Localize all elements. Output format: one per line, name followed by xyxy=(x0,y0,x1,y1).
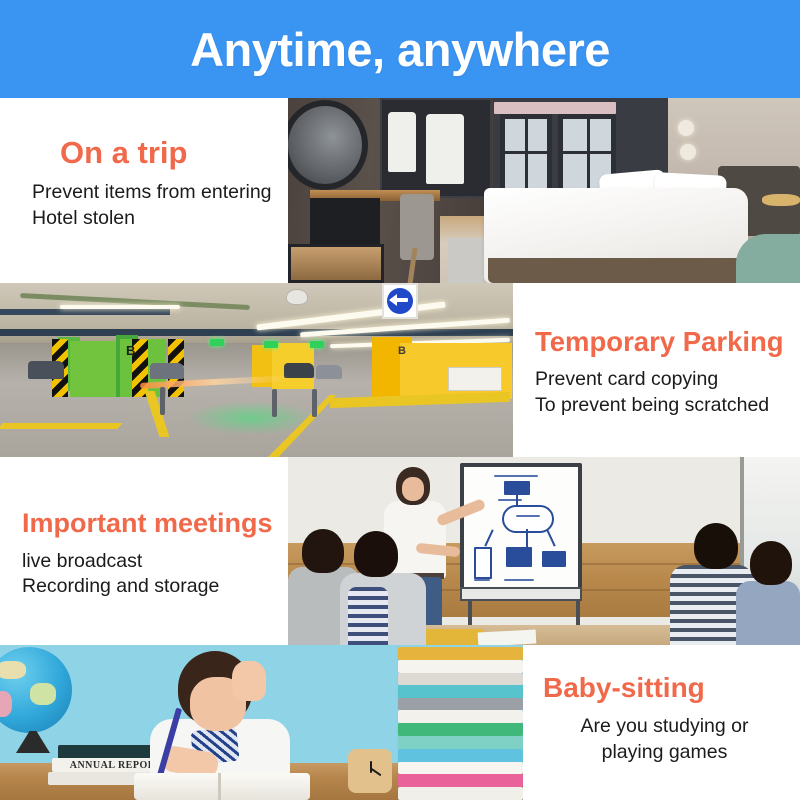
attendee-head xyxy=(302,529,344,573)
garage-fluorescent-light xyxy=(60,305,180,309)
page-title: Anytime, anywhere xyxy=(190,26,610,73)
hotel-table-lamp xyxy=(762,194,800,206)
diagram-connector xyxy=(526,529,528,547)
diagram-phone xyxy=(474,547,492,579)
green-exit-sign xyxy=(310,341,324,348)
caption-baby-sitting: Baby-sitting Are you studying or playing… xyxy=(523,645,800,800)
diagram-label xyxy=(504,579,534,581)
arrow-disc-icon xyxy=(387,288,413,314)
open-notebook xyxy=(134,773,310,800)
section-body-on-a-trip: Prevent items from entering Hotel stolen xyxy=(32,180,272,231)
stacked-book xyxy=(398,736,523,749)
window-mullion xyxy=(525,119,528,189)
cloud-label xyxy=(516,515,540,517)
hotel-wall-sconce xyxy=(680,144,696,160)
stacked-book xyxy=(398,647,523,660)
hotel-bed-base xyxy=(488,258,746,283)
attendee-head xyxy=(694,523,738,569)
parked-car xyxy=(28,361,64,379)
stacked-book xyxy=(398,723,523,736)
diagram-label xyxy=(474,579,490,581)
bollard xyxy=(160,387,165,415)
pillar-label-near: B xyxy=(126,343,135,358)
security-camera-dome xyxy=(286,289,308,305)
garage-ceiling-beam xyxy=(0,329,513,336)
parked-car xyxy=(316,365,342,379)
attendee-body xyxy=(736,581,800,645)
green-exit-sign xyxy=(264,341,278,348)
header-banner: Anytime, anywhere xyxy=(0,0,800,98)
hotel-bathrobe xyxy=(426,114,464,184)
hotel-wall-sconce xyxy=(678,120,694,136)
hotel-side-table xyxy=(736,234,800,283)
child-studying-photo: ANNUAL REPORT xyxy=(0,645,523,800)
section-body-baby-sitting: Are you studying or playing games xyxy=(537,714,792,765)
caption-temporary-parking: Temporary Parking Prevent card copying T… xyxy=(513,283,800,457)
bollard xyxy=(272,389,277,417)
diagram-label xyxy=(498,499,522,501)
diagram-cloud xyxy=(502,505,554,533)
meeting-room-photo xyxy=(288,457,800,645)
garage-notice-board xyxy=(448,367,502,391)
parked-car xyxy=(150,363,184,379)
paper-sheet xyxy=(478,629,537,645)
stacked-book xyxy=(398,660,523,673)
stacked-book xyxy=(398,774,523,787)
hotel-room-photo xyxy=(288,98,800,283)
stacked-book xyxy=(398,762,523,774)
attendee-striped-shirt xyxy=(348,587,388,645)
stacked-book xyxy=(398,787,523,800)
hotel-luggage-bench xyxy=(288,244,384,283)
section-important-meetings: Important meetings live broadcast Record… xyxy=(0,457,800,645)
stacked-book xyxy=(398,673,523,685)
whiteboard-tray xyxy=(460,587,582,601)
diagram-laptop xyxy=(542,551,566,567)
window-transom xyxy=(505,151,549,154)
globe-landmass xyxy=(0,661,26,679)
hotel-bathrobe xyxy=(388,112,416,172)
attendee-head xyxy=(750,541,792,585)
stacked-book xyxy=(398,698,523,710)
window-mullion xyxy=(587,119,590,189)
book-stack xyxy=(398,645,523,800)
window-transom xyxy=(563,151,613,154)
globe-landmass xyxy=(0,691,12,717)
section-baby-sitting: ANNUAL REPORT xyxy=(0,645,800,800)
blue-arrow-sign xyxy=(382,283,418,319)
clock-minute-hand xyxy=(371,768,382,777)
left-arrow-icon xyxy=(391,298,408,302)
whiteboard-heading-scribble xyxy=(494,475,538,477)
presenter-face xyxy=(402,477,424,501)
section-title-baby-sitting: Baby-sitting xyxy=(543,673,792,704)
parking-garage-photo: B B xyxy=(0,283,513,457)
section-on-a-trip: On a trip Prevent items from entering Ho… xyxy=(0,98,800,283)
garage-ceiling-beam xyxy=(0,309,170,315)
wooden-alarm-clock xyxy=(348,749,392,793)
section-title-on-a-trip: On a trip xyxy=(60,136,272,170)
stacked-book xyxy=(398,710,523,723)
pillar-label-far: B xyxy=(398,345,406,357)
bollard xyxy=(312,389,317,417)
stacked-book xyxy=(398,749,523,762)
attendee-head xyxy=(354,531,398,577)
hotel-window-left xyxy=(500,114,552,194)
stacked-book xyxy=(398,685,523,698)
globe-landmass xyxy=(30,683,56,705)
promo-page: Anytime, anywhere On a trip Prevent item… xyxy=(0,0,800,800)
section-title-temporary-parking: Temporary Parking xyxy=(535,327,790,357)
section-body-important-meetings: live broadcast Recording and storage xyxy=(22,549,280,600)
child-hand-on-head xyxy=(232,661,266,701)
green-exit-sign xyxy=(210,339,224,346)
caption-on-a-trip: On a trip Prevent items from entering Ho… xyxy=(0,98,288,283)
hotel-window-valance xyxy=(494,102,616,114)
section-temporary-parking: B B Temporary Parking Prevent card copyi… xyxy=(0,283,800,457)
yellow-lane-marking xyxy=(0,423,123,429)
diagram-monitor xyxy=(506,547,532,567)
diagram-laptop-top xyxy=(504,481,530,495)
caption-important-meetings: Important meetings live broadcast Record… xyxy=(0,457,288,645)
section-title-important-meetings: Important meetings xyxy=(22,509,280,539)
notebook-spine xyxy=(218,773,221,800)
section-body-temporary-parking: Prevent card copying To prevent being sc… xyxy=(535,367,790,418)
